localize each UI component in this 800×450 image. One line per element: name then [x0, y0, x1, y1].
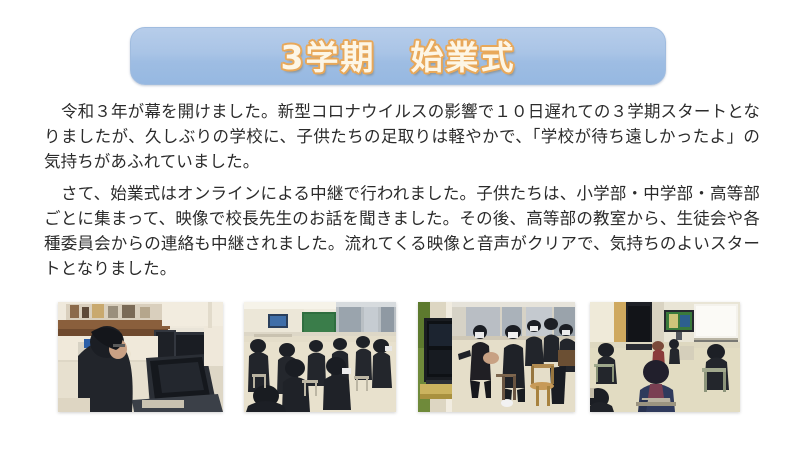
title-banner: 3学期 始業式: [130, 27, 666, 85]
photo-broadcast-operator: [58, 302, 223, 412]
photo-hall-screen-whiteboard-image: [590, 302, 740, 412]
photo-teacher-and-students-monitor: [418, 302, 575, 412]
article-body: 令和３年が幕を開けました。新型コロナウイルスの影響で１０日遅れての３学期スタート…: [44, 99, 760, 281]
photo-strip: [0, 302, 800, 420]
photo-hall-screen-whiteboard: [590, 302, 740, 412]
photo-classroom-students-watching: [244, 302, 396, 412]
paragraph-1: 令和３年が幕を開けました。新型コロナウイルスの影響で１０日遅れての３学期スタート…: [44, 99, 760, 174]
photo-teacher-and-students-monitor-image: [418, 302, 575, 412]
photo-broadcast-operator-image: [58, 302, 223, 412]
photo-classroom-students-watching-image: [244, 302, 396, 412]
page-title: 3学期 始業式: [281, 31, 516, 79]
paragraph-2: さて、始業式はオンラインによる中継で行われました。子供たちは、小学部・中学部・高…: [44, 181, 760, 281]
